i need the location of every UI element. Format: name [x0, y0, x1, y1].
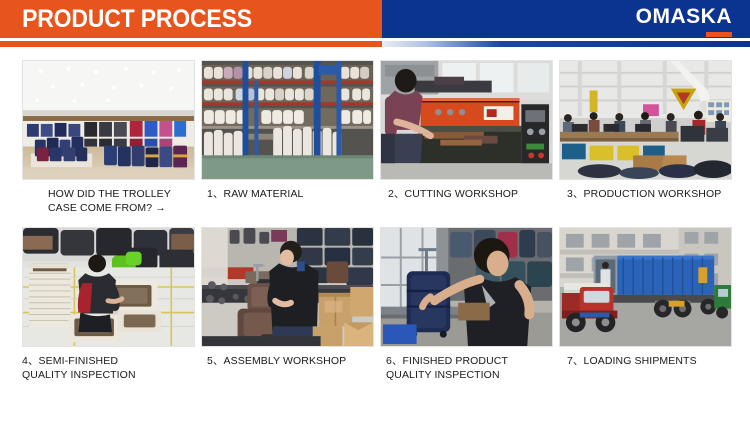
production-workshop-photo: [559, 60, 732, 180]
process-step-7-caption: 6、FINISHED PRODUCT QUALITY INSPECTION: [380, 354, 553, 382]
loading-shipments-photo: [559, 227, 732, 347]
process-step-5: 4、SEMI-FINISHED QUALITY INSPECTION: [22, 227, 195, 382]
process-step-2-caption: 1、RAW MATERIAL: [201, 187, 374, 201]
logo-text: OMASKA: [636, 6, 732, 27]
assembly-workshop-photo: [201, 227, 374, 347]
process-step-3-caption: 2、CUTTING WORKSHOP: [380, 187, 553, 201]
process-step-7: 6、FINISHED PRODUCT QUALITY INSPECTION: [380, 227, 553, 382]
process-step-6-caption: 5、ASSEMBLY WORKSHOP: [201, 354, 374, 368]
process-step-6: 5、ASSEMBLY WORKSHOP: [201, 227, 374, 382]
process-step-5-caption: 4、SEMI-FINISHED QUALITY INSPECTION: [22, 354, 195, 382]
process-step-4-caption: 3、PRODUCTION WORKSHOP: [559, 187, 732, 201]
accent-blue-gradient-segment: [382, 41, 750, 47]
process-row-2: 4、SEMI-FINISHED QUALITY INSPECTION: [22, 227, 728, 382]
header-accent-bar: [0, 41, 750, 47]
page-header: PRODUCT PROCESS OMASKA: [0, 0, 750, 38]
trolley-case-showroom-photo: [22, 60, 195, 180]
cutting-workshop-photo: [380, 60, 553, 180]
semi-finished-quality-inspection-photo: [22, 227, 195, 347]
process-step-4: 3、PRODUCTION WORKSHOP: [559, 60, 732, 215]
page-title: PRODUCT PROCESS: [0, 5, 252, 34]
finished-product-quality-inspection-photo: [380, 227, 553, 347]
logo-underline-accent: [706, 32, 732, 37]
process-step-8: 7、LOADING SHIPMENTS: [559, 227, 732, 382]
process-row-1: HOW DID THE TROLLEY CASE COME FROM? →: [22, 60, 728, 215]
process-step-8-caption: 7、LOADING SHIPMENTS: [559, 354, 732, 368]
process-grid: HOW DID THE TROLLEY CASE COME FROM? →: [0, 47, 750, 382]
process-step-3: 2、CUTTING WORKSHOP: [380, 60, 553, 215]
product-process-page: PRODUCT PROCESS OMASKA: [0, 0, 750, 427]
accent-orange-segment: [0, 41, 382, 47]
header-title-bar: PRODUCT PROCESS: [0, 0, 382, 38]
process-step-1: HOW DID THE TROLLEY CASE COME FROM? →: [22, 60, 195, 215]
process-step-1-caption: HOW DID THE TROLLEY CASE COME FROM? →: [22, 187, 195, 215]
raw-material-warehouse-photo: [201, 60, 374, 180]
process-step-2: 1、RAW MATERIAL: [201, 60, 374, 215]
header-brand-bar: OMASKA: [382, 0, 750, 38]
brand-logo: OMASKA: [636, 6, 732, 37]
